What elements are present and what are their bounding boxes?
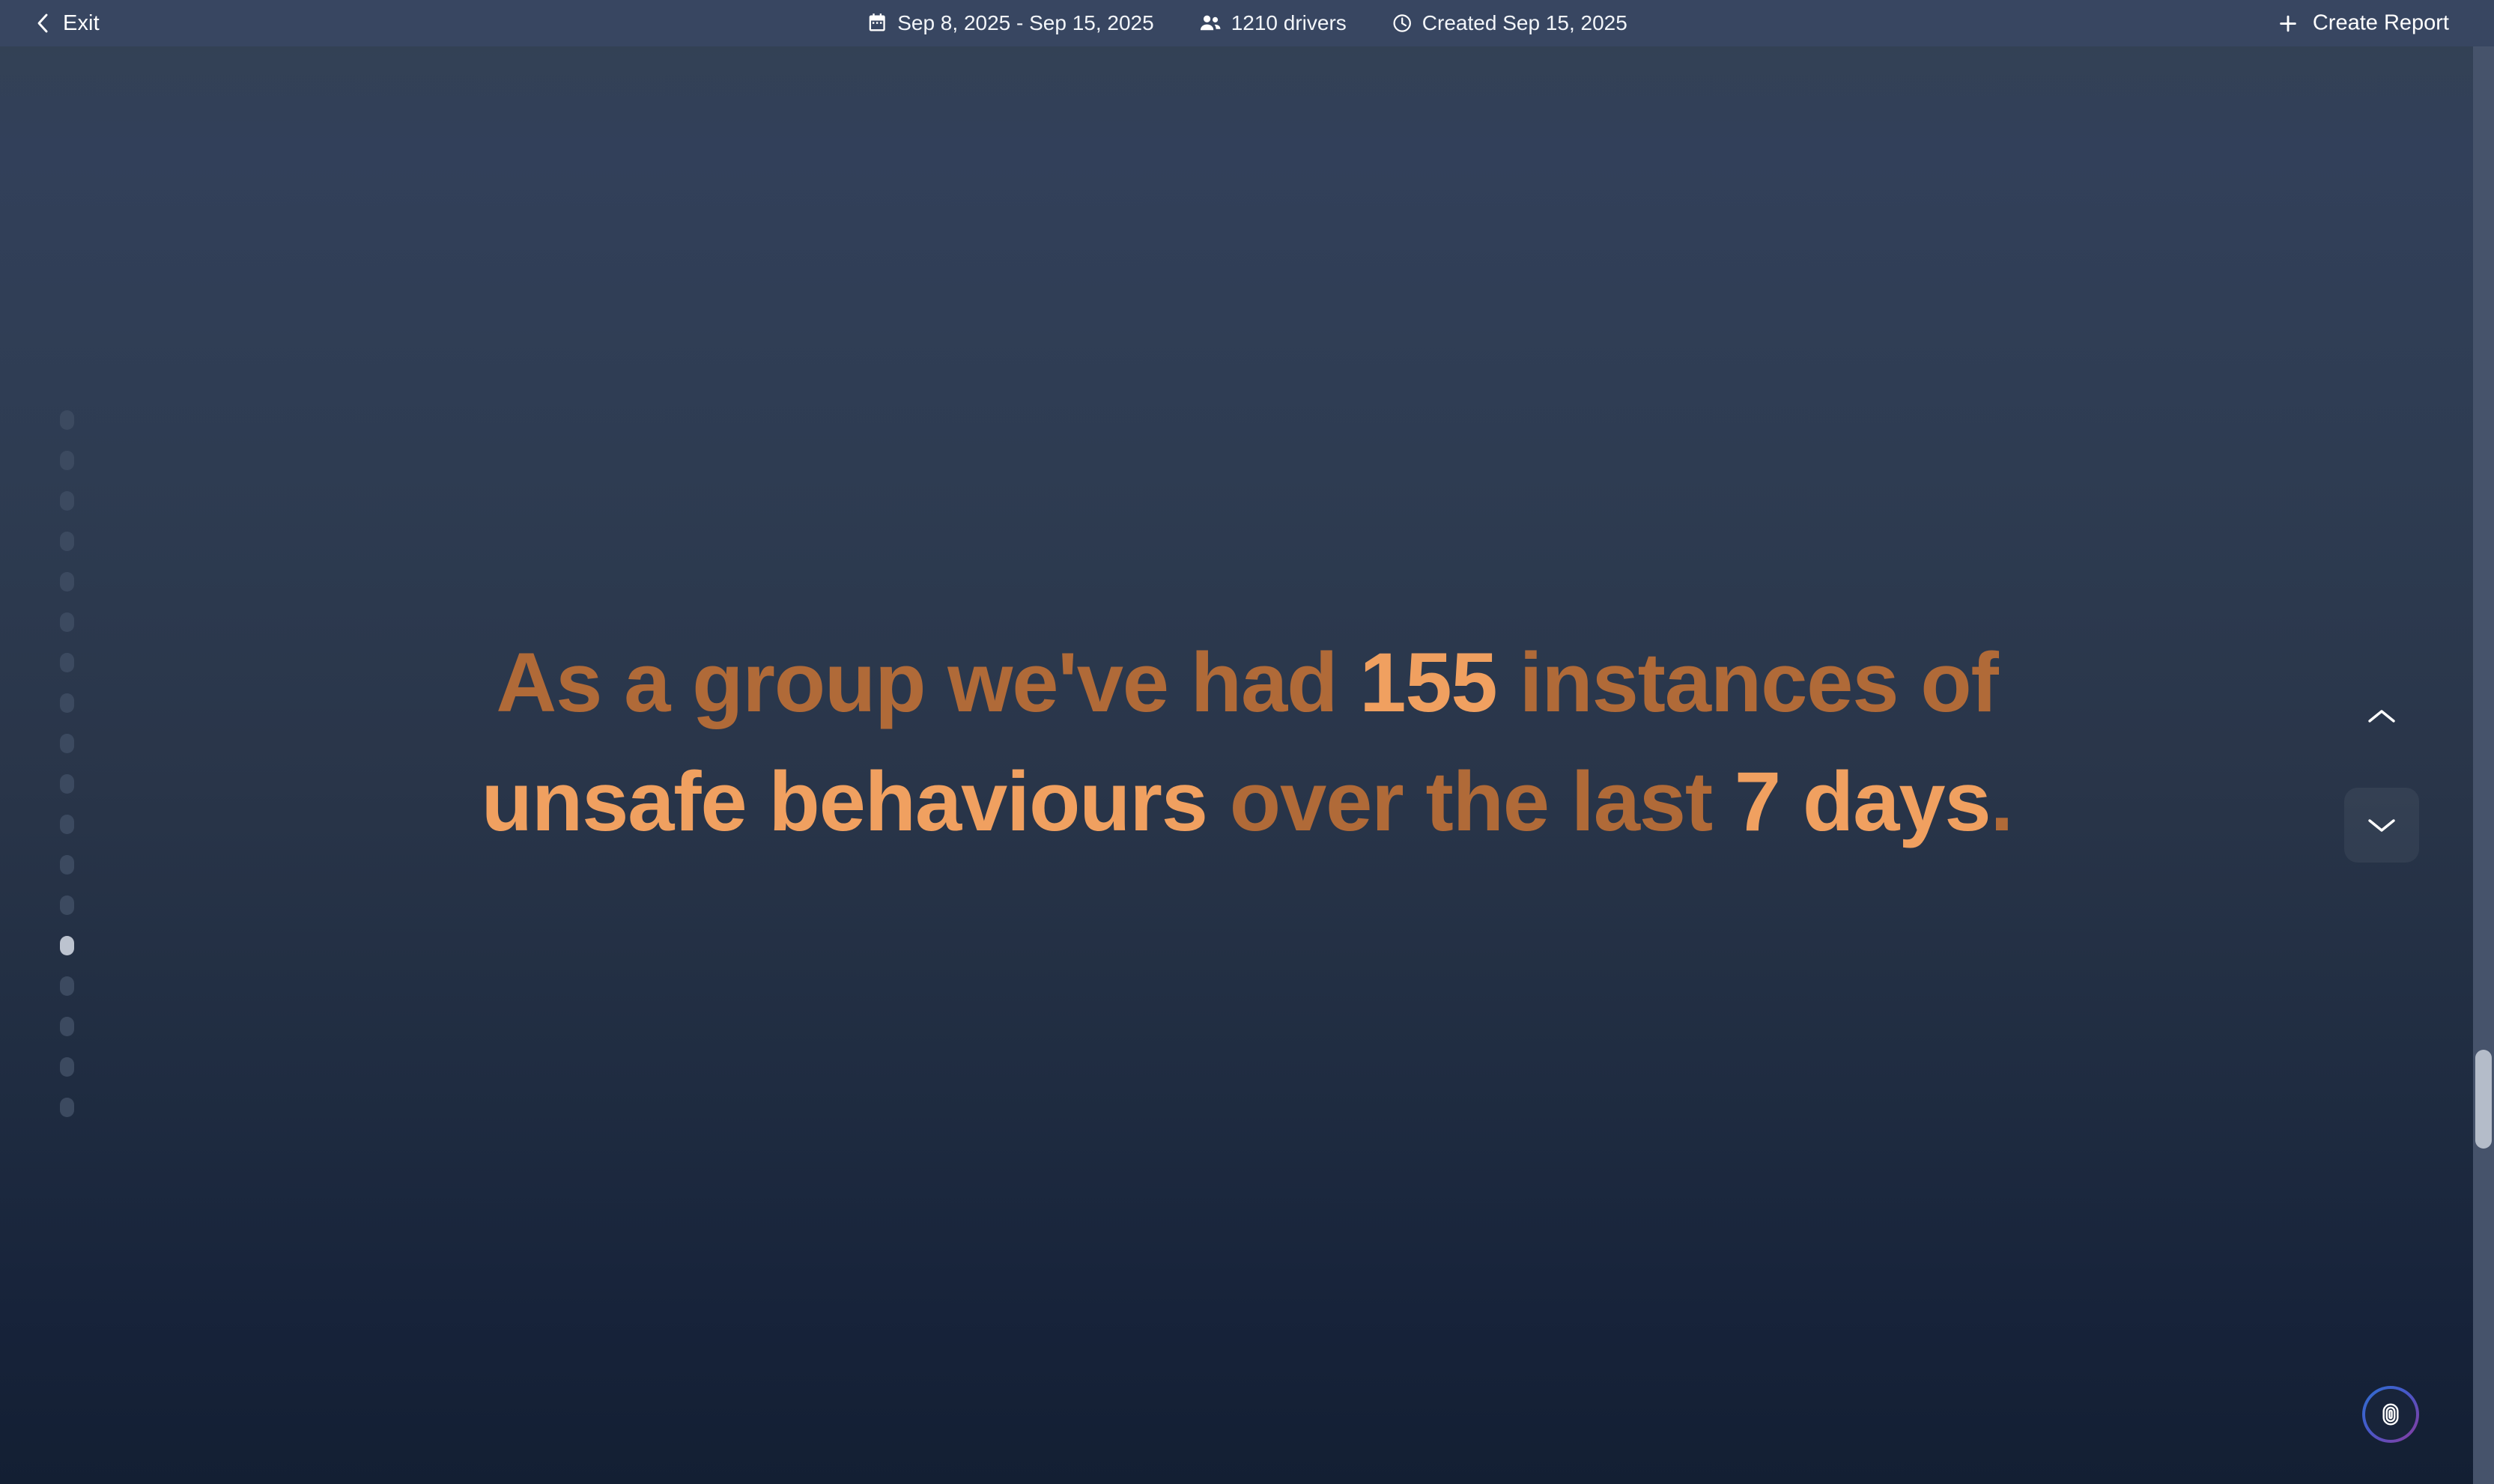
progress-dot[interactable]	[60, 653, 74, 672]
headline-segment-4: over the last	[1207, 755, 1735, 848]
report-viewer: Exit Sep 8, 2025 - Sep 15, 2025	[0, 0, 2494, 1484]
progress-dot[interactable]	[60, 774, 74, 794]
plus-icon	[2277, 12, 2299, 34]
progress-dot-active[interactable]	[60, 936, 74, 955]
date-range-meta: Sep 8, 2025 - Sep 15, 2025	[867, 11, 1154, 35]
fab-inner	[2365, 1389, 2416, 1440]
headline-segment-2: instances of	[1497, 636, 1998, 729]
headline-segment-1: 155	[1359, 636, 1496, 729]
previous-slide-button[interactable]	[2344, 679, 2419, 754]
exit-label: Exit	[63, 11, 100, 36]
progress-dot[interactable]	[60, 693, 74, 713]
progress-dot[interactable]	[60, 451, 74, 470]
date-range-text: Sep 8, 2025 - Sep 15, 2025	[897, 11, 1154, 35]
vertical-scrollbar-thumb[interactable]	[2475, 1050, 2492, 1149]
progress-dot[interactable]	[60, 491, 74, 511]
progress-dot[interactable]	[60, 1098, 74, 1117]
slide-progress-rail	[60, 410, 74, 1117]
progress-dot[interactable]	[60, 410, 74, 430]
chevron-up-icon	[2366, 707, 2397, 726]
progress-dot[interactable]	[60, 855, 74, 875]
progress-dot[interactable]	[60, 612, 74, 632]
created-date-text: Created Sep 15, 2025	[1422, 11, 1627, 35]
clock-icon	[1392, 13, 1413, 34]
exit-button[interactable]: Exit	[34, 11, 100, 36]
headline-segment-6: .	[1990, 755, 2012, 848]
create-report-label: Create Report	[2313, 11, 2449, 36]
progress-dot[interactable]	[60, 1057, 74, 1077]
headline-segment-0: As a group we've had	[496, 636, 1359, 729]
progress-dot[interactable]	[60, 734, 74, 753]
drivers-count-text: 1210 drivers	[1231, 11, 1347, 35]
progress-dot[interactable]	[60, 532, 74, 551]
drivers-meta: 1210 drivers	[1199, 11, 1347, 35]
create-report-button[interactable]: Create Report	[2277, 11, 2449, 36]
assistant-fab-button[interactable]	[2362, 1386, 2419, 1443]
progress-dot[interactable]	[60, 815, 74, 834]
progress-dot[interactable]	[60, 1017, 74, 1036]
chevron-left-icon	[34, 12, 51, 34]
vertical-scrollbar-track[interactable]	[2473, 46, 2494, 1484]
progress-dot[interactable]	[60, 572, 74, 592]
report-metadata: Sep 8, 2025 - Sep 15, 2025 1210 drivers	[867, 11, 1627, 35]
headline-segment-3: unsafe behaviours	[482, 755, 1207, 848]
slide-headline: As a group we've had 155 instances of un…	[442, 623, 2052, 861]
created-meta: Created Sep 15, 2025	[1392, 11, 1627, 35]
top-header-bar: Exit Sep 8, 2025 - Sep 15, 2025	[0, 0, 2494, 46]
people-icon	[1199, 13, 1222, 34]
progress-dot[interactable]	[60, 976, 74, 996]
headline-segment-5: 7 days	[1735, 755, 1991, 848]
chevron-down-icon	[2366, 815, 2397, 835]
progress-dot[interactable]	[60, 895, 74, 915]
calendar-icon	[867, 13, 888, 34]
fingerprint-icon	[2378, 1402, 2403, 1427]
slide-content: As a group we've had 155 instances of un…	[0, 0, 2494, 1484]
next-slide-button[interactable]	[2344, 788, 2419, 863]
